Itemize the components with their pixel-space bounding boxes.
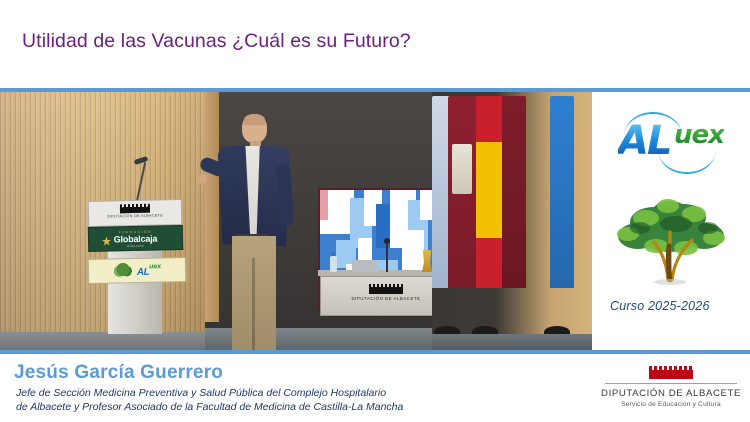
flags-area [432,92,592,350]
content-frame: DIPUTACIÓN DE ALBACETE FUNDACIÓN Globalc… [0,88,750,354]
floor-left [0,332,215,350]
podium-aluex-al: AL [137,266,150,277]
diputacion-crest-icon [649,366,693,379]
speaker-role-line2: de Albacete y Profesor Asociado de la Fa… [16,400,403,414]
branding-panel: AL uex [592,92,750,350]
title-bar: Utilidad de las Vacunas ¿Cuál es su Futu… [0,0,750,88]
podium-aluex-uex: uex [149,263,161,270]
podium-sign-diputacion: DIPUTACIÓN DE ALBACETE [88,199,183,227]
podium-sign-globalcaja: FUNDACIÓN Globalcaja Albacete [88,225,184,252]
slide-root: Utilidad de las Vacunas ¿Cuál es su Futu… [0,0,750,422]
tree-icon [113,262,133,279]
speaker-role-line1: Jefe de Sección Medicina Preventiva y Sa… [16,386,403,400]
speaker-jacket-left [217,145,250,244]
speaker-trousers [232,236,276,350]
table-microphone [386,242,388,272]
flag-crimson [502,96,526,288]
aluex-logo-uex: uex [674,120,724,150]
footer: Jesús García Guerrero Jefe de Sección Me… [0,358,750,422]
speaker-head [242,114,267,143]
tree-logo-icon [610,188,734,292]
table-crest-icon [369,284,403,294]
podium-sign-aluex: ALuex [88,257,187,284]
lecture-photo: DIPUTACIÓN DE ALBACETE FUNDACIÓN Globalc… [0,92,592,350]
aluex-logo-al: AL [618,118,670,164]
water-bottle [330,256,337,272]
laptop [352,260,378,272]
flag-castilla-la-mancha [448,96,478,288]
curso-label: Curso 2025-2026 [610,299,710,313]
institution-name: DIPUTACIÓN DE ALBACETE [596,388,746,399]
aluex-logo: AL uex [598,110,744,172]
flag-spain [476,96,504,288]
diputacion-logo: DIPUTACIÓN DE ALBACETE Servicio de Educa… [596,364,746,416]
flag-blue [550,96,574,288]
podium-sign-diputacion-text: DIPUTACIÓN DE ALBACETE [89,213,181,220]
institution-subtitle: Servicio de Educación y Cultura [596,401,746,408]
speaker-right-arm [276,164,294,227]
speaker-left-hand [196,174,207,184]
divider [605,383,737,384]
floor-right [432,334,592,350]
speaker-name: Jesús García Guerrero [14,362,223,384]
globalcaja-sub: Albacete [89,243,182,249]
speaker-role: Jefe de Sección Medicina Preventiva y Sa… [16,386,403,414]
page-title: Utilidad de las Vacunas ¿Cuál es su Futu… [22,30,411,53]
diputacion-crest-icon [120,204,150,214]
speaker-figure [196,108,316,350]
